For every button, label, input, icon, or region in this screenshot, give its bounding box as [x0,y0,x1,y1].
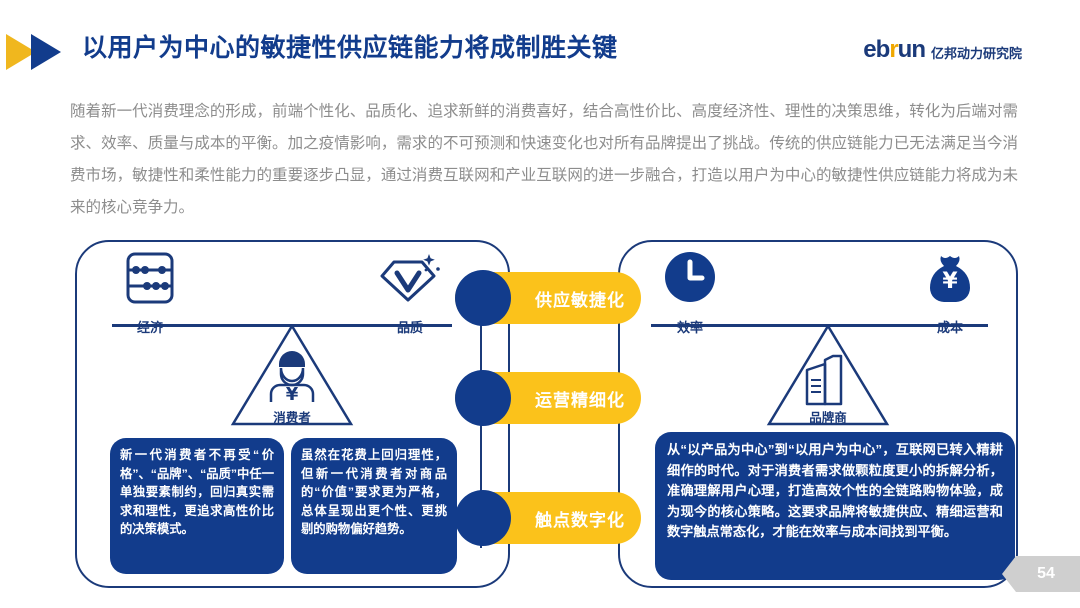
pill-supply-agility-label: 供应敏捷化 [535,286,625,311]
cost-label: 成本 [895,317,1005,336]
page-title: 以用户为中心的敏捷性供应链能力将成制胜关键 [82,28,618,64]
intro-paragraph: 随着新一代消费理念的形成，前端个性化、品质化、追求新鲜的消费喜好，结合高性价比、… [70,96,1018,224]
pill-supply-agility-dot [455,270,511,326]
brand-text-eb: eb [863,36,889,63]
diamond-check-icon [378,250,442,308]
ebrun-logo: ebrun 亿邦动力研究院 [863,38,1022,62]
consumer-fulcrum: ¥ 消费者 [227,324,357,432]
page-header: 以用户为中心的敏捷性供应链能力将成制胜关键 ebrun 亿邦动力研究院 [0,22,1080,84]
svg-text:¥: ¥ [286,384,299,405]
callout-consumer-decision: 新一代消费者不再受“价格”、“品牌”、“品质”中任一单独要素制约，回归真实需求和… [110,438,284,574]
brand-text-r: r [889,36,897,63]
pill-touchpoint-digitization-dot [455,490,511,546]
page-number-badge: 54 [1002,556,1080,592]
efficiency-label: 效率 [635,317,745,336]
abacus-icon [122,250,178,308]
consumer-label: 消费者 [227,407,357,426]
brand-label: 品牌商 [763,407,893,426]
pill-refined-operations-label: 运营精细化 [535,386,625,411]
brand-text-un: un [898,36,925,63]
cost-slot: ¥ 成本 [895,250,1005,336]
pill-refined-operations-dot [455,370,511,426]
pill-touchpoint-digitization-label: 触点数字化 [535,506,625,531]
money-bag-icon: ¥ [921,250,979,308]
callout-user-centric: 从“以产品为中心”到“以用户为中心”，互联网已转入精耕细作的时代。对于消费者需求… [655,432,1015,580]
quality-label: 品质 [355,317,465,336]
supply-chain-diagram: 经济 品质 ¥ 消费者 效率 ¥ [0,232,1080,592]
svg-text:¥: ¥ [942,269,958,294]
brand-latin-wordmark: ebrun [863,38,925,62]
logo-arrows-icon [6,30,76,74]
page-number-value: 54 [1027,565,1055,583]
quality-slot: 品质 [355,250,465,336]
clock-icon [661,250,719,308]
callout-consumer-value: 虽然在花费上回归理性，但新一代消费者对商品的“价值”要求更为严格，总体呈现出更个… [291,438,457,574]
economy-label: 经济 [95,317,205,336]
brand-fulcrum: 品牌商 [763,324,893,432]
brand-chinese-name: 亿邦动力研究院 [931,46,1022,62]
efficiency-slot: 效率 [635,250,745,336]
economy-slot: 经济 [95,250,205,336]
